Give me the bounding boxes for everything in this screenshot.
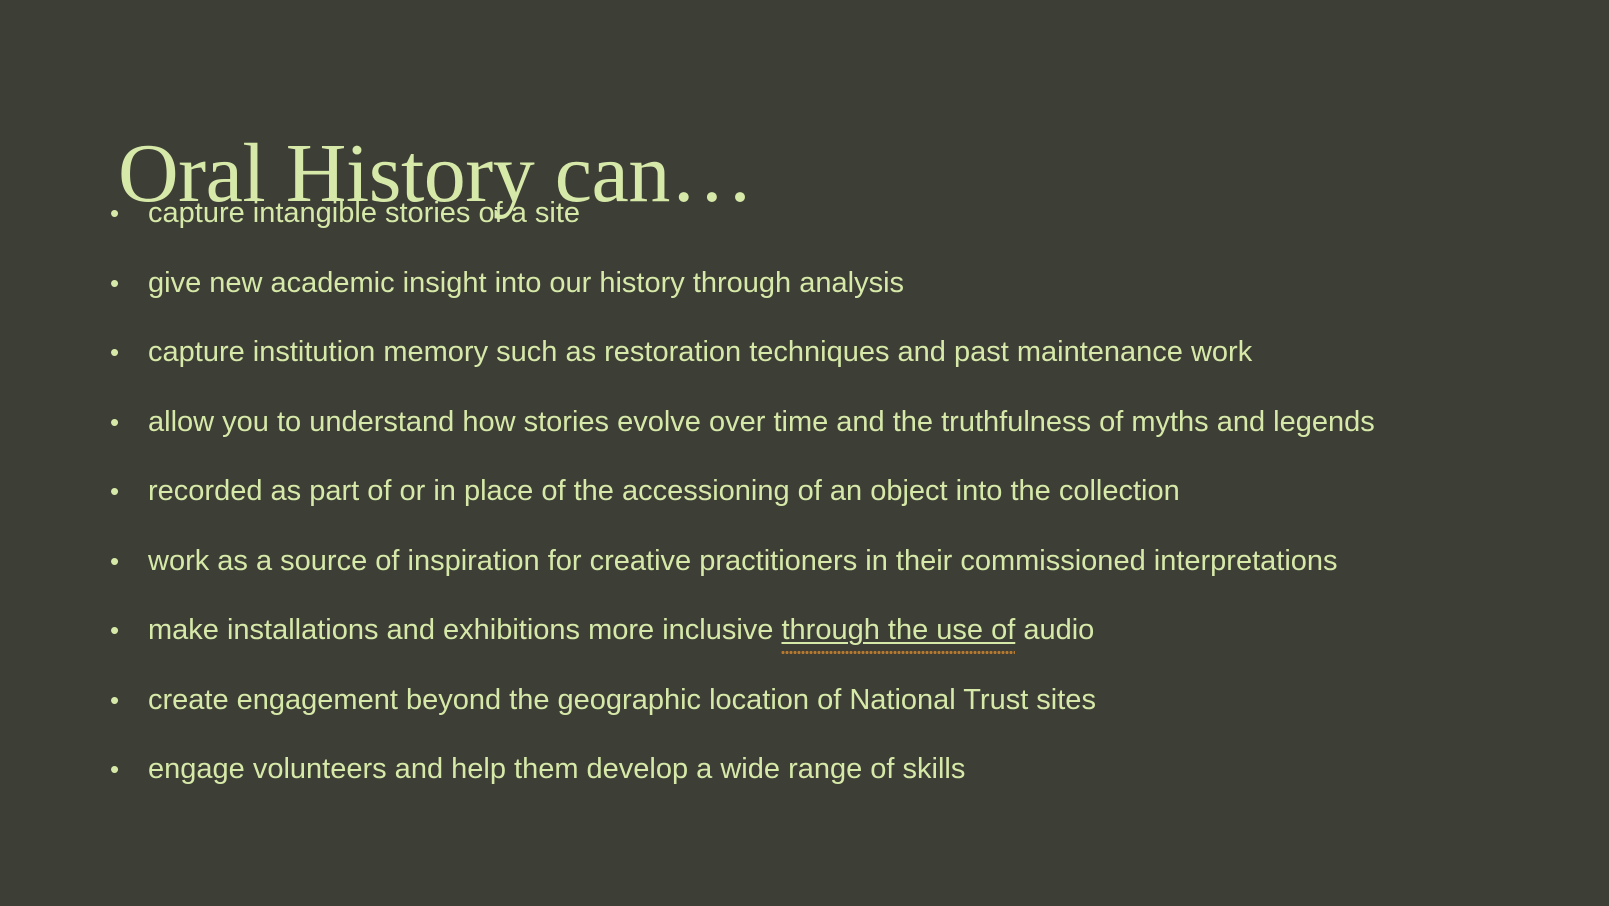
bullet-list: • capture intangible stories of a site •…: [110, 196, 1570, 822]
bullet-point-icon: •: [110, 683, 148, 717]
grammar-suggestion-run[interactable]: through the use of: [781, 614, 1015, 646]
list-item[interactable]: • recorded as part of or in place of the…: [110, 474, 1570, 544]
list-item-label: allow you to understand how stories evol…: [148, 405, 1375, 439]
list-item[interactable]: • allow you to understand how stories ev…: [110, 405, 1570, 475]
list-item[interactable]: • create engagement beyond the geographi…: [110, 683, 1570, 753]
list-item-label: create engagement beyond the geographic …: [148, 683, 1096, 717]
bullet-point-icon: •: [110, 196, 148, 230]
bullet-point-icon: •: [110, 752, 148, 786]
list-item-label: work as a source of inspiration for crea…: [148, 544, 1338, 578]
bullet-point-icon: •: [110, 613, 148, 647]
list-item-text-after: audio: [1015, 614, 1094, 646]
list-item[interactable]: • engage volunteers and help them develo…: [110, 752, 1570, 822]
list-item[interactable]: • work as a source of inspiration for cr…: [110, 544, 1570, 614]
list-item-label: recorded as part of or in place of the a…: [148, 474, 1180, 508]
list-item-label: give new academic insight into our histo…: [148, 266, 904, 300]
list-item[interactable]: • capture institution memory such as res…: [110, 335, 1570, 405]
list-item-text-before: make installations and exhibitions more …: [148, 614, 781, 646]
list-item-label: capture institution memory such as resto…: [148, 335, 1252, 369]
list-item[interactable]: • make installations and exhibitions mor…: [110, 613, 1570, 683]
bullet-point-icon: •: [110, 335, 148, 369]
bullet-point-icon: •: [110, 544, 148, 578]
list-item[interactable]: • capture intangible stories of a site: [110, 196, 1570, 266]
list-item-label: capture intangible stories of a site: [148, 196, 580, 230]
bullet-point-icon: •: [110, 266, 148, 300]
presentation-slide: Oral History can… • capture intangible s…: [0, 0, 1609, 906]
bullet-point-icon: •: [110, 405, 148, 439]
list-item[interactable]: • give new academic insight into our his…: [110, 266, 1570, 336]
bullet-point-icon: •: [110, 474, 148, 508]
list-item-label: engage volunteers and help them develop …: [148, 752, 965, 786]
list-item-label: make installations and exhibitions more …: [148, 613, 1094, 647]
